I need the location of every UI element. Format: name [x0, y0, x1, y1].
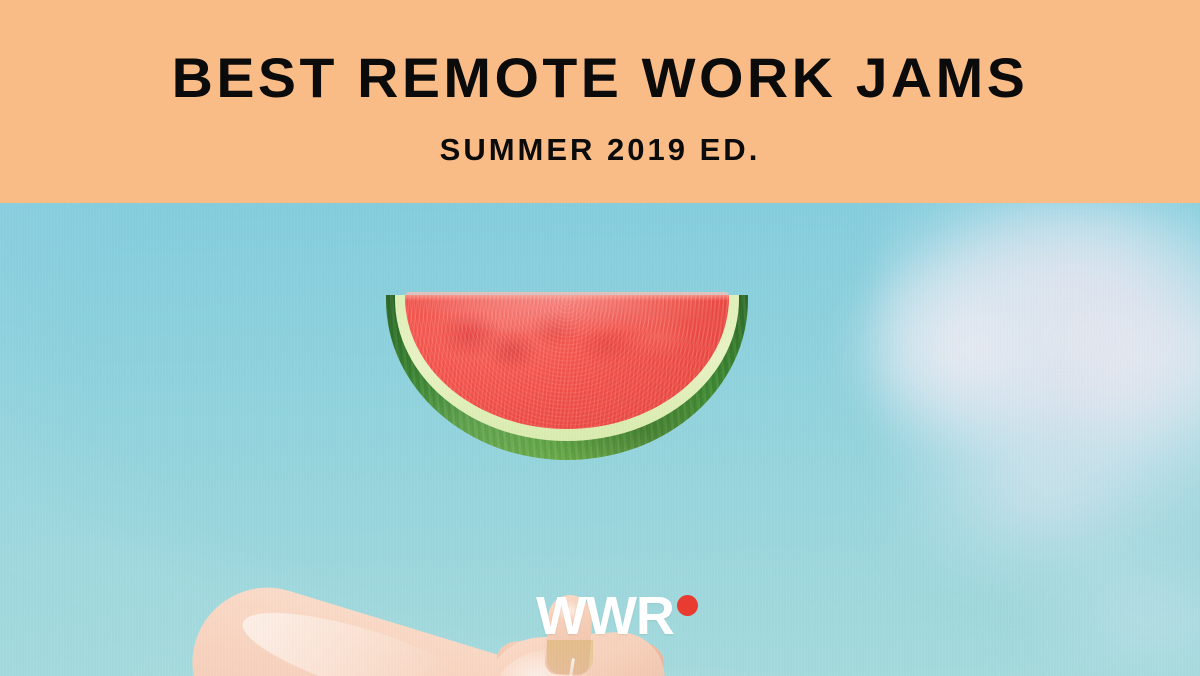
wwr-logo-dot-icon — [677, 595, 698, 616]
title-banner: BEST REMOTE WORK JAMS SUMMER 2019 ED. — [0, 0, 1200, 203]
page-title: BEST REMOTE WORK JAMS — [172, 50, 1029, 106]
wwr-logo[interactable]: WWR — [536, 592, 698, 640]
page-subtitle: SUMMER 2019 ED. — [440, 134, 761, 165]
promo-graphic: BEST REMOTE WORK JAMS SUMMER 2019 ED. WW… — [0, 0, 1200, 676]
wwr-logo-text: WWR — [536, 592, 674, 640]
